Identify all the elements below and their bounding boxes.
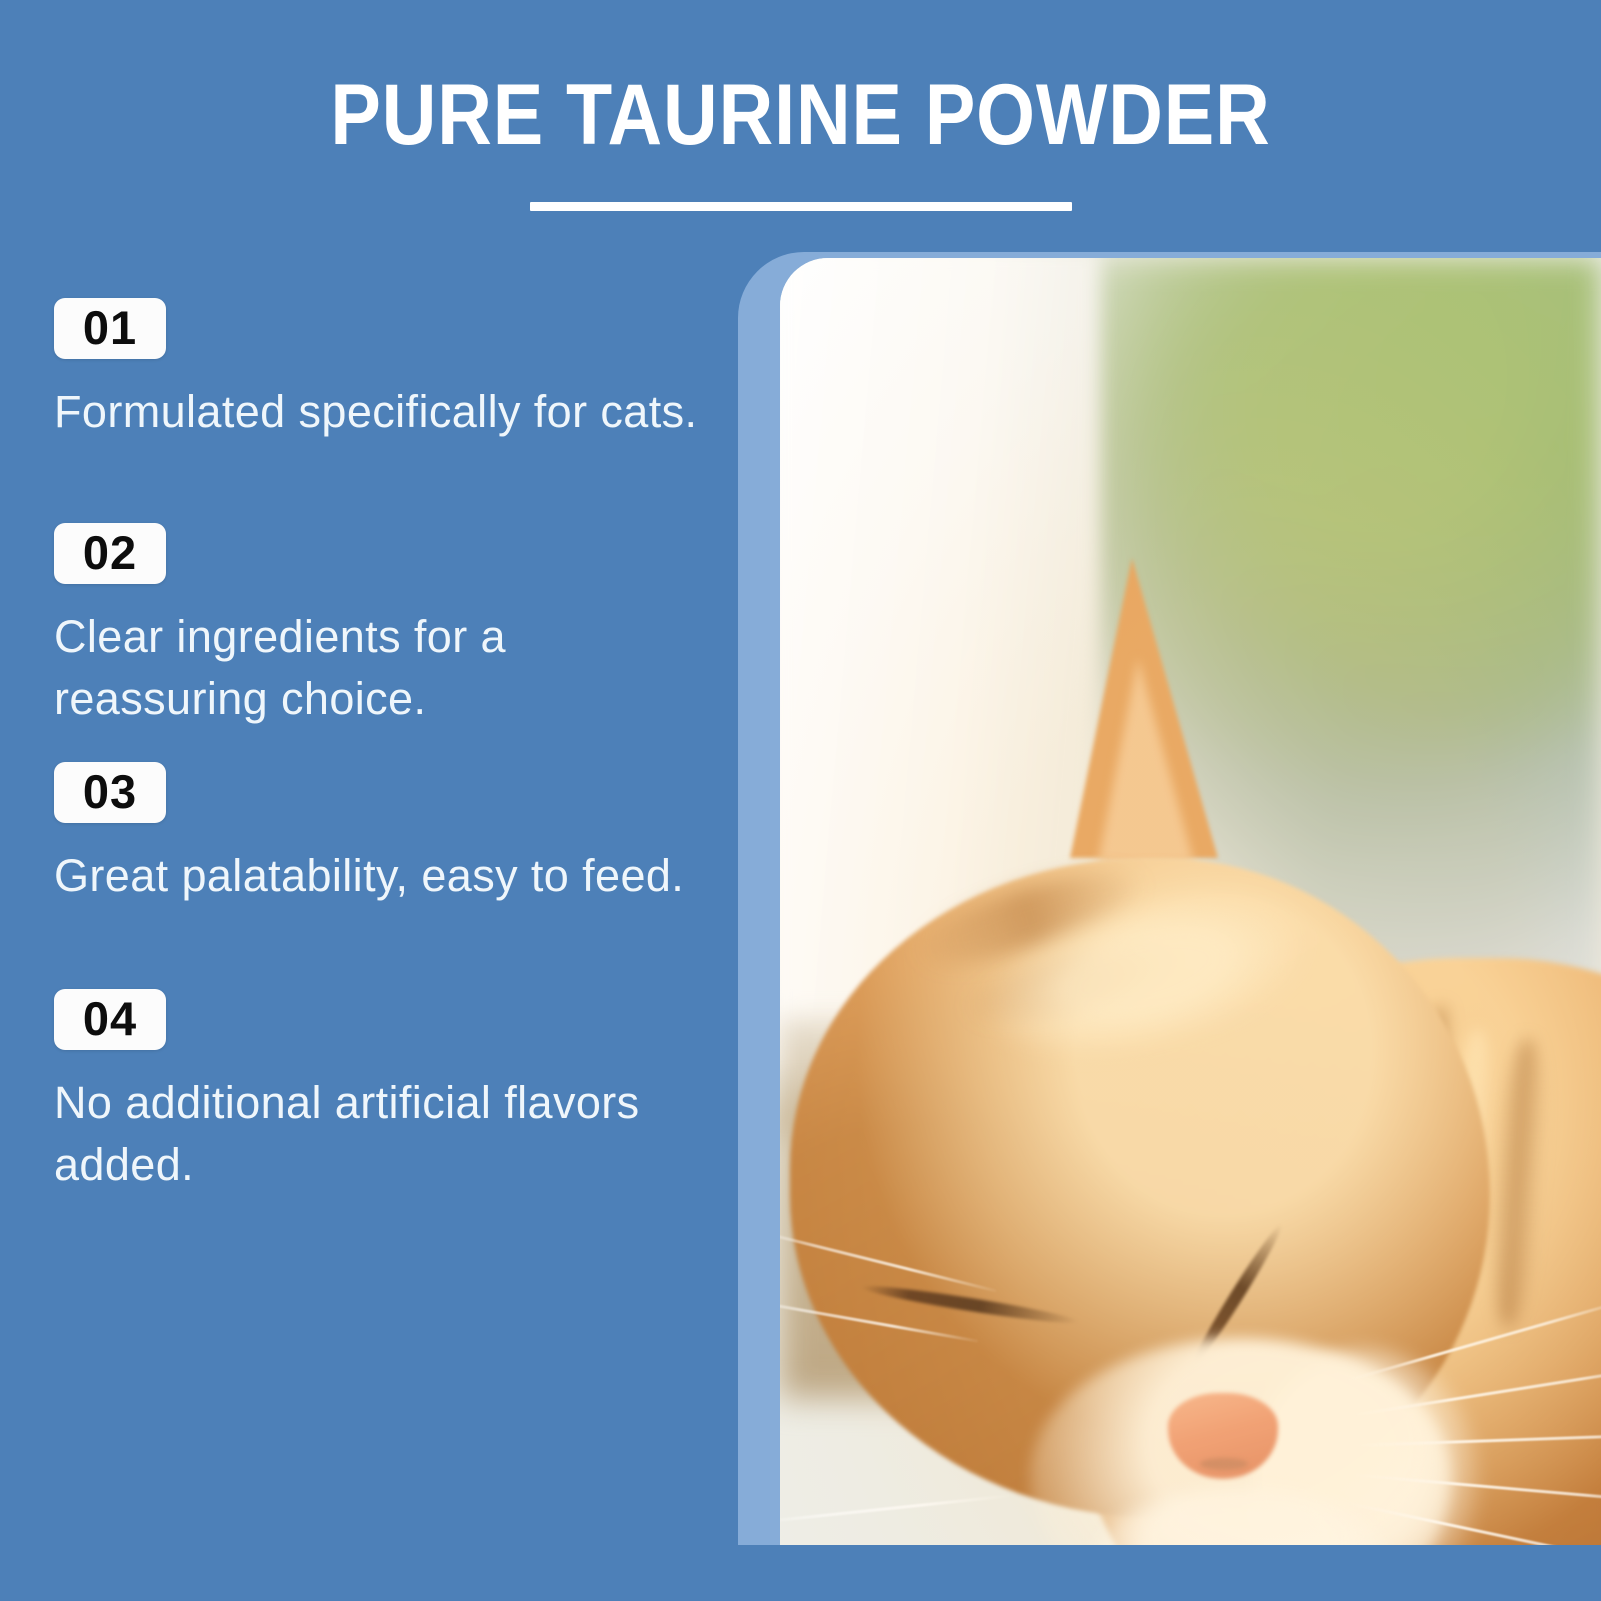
feature-number-badge-02: 02 bbox=[54, 523, 166, 584]
title-underline-rule bbox=[530, 202, 1072, 211]
feature-text-01: Formulated specifically for cats. bbox=[54, 381, 704, 443]
feature-number-badge-03: 03 bbox=[54, 762, 166, 823]
cat-photo bbox=[780, 258, 1601, 1545]
feature-item-02: 02 Clear ingredients for a reassuring ch… bbox=[54, 523, 714, 730]
feature-text-03: Great palatability, easy to feed. bbox=[54, 845, 704, 907]
promo-poster: PURE TAURINE POWDER 01 Formulated specif… bbox=[0, 0, 1601, 1601]
cat-whisker-left-3 bbox=[780, 1494, 1009, 1524]
feature-number-badge-04: 04 bbox=[54, 989, 166, 1050]
feature-text-04: No additional artificial flavors added. bbox=[54, 1072, 704, 1196]
feature-item-03: 03 Great palatability, easy to feed. bbox=[54, 762, 714, 907]
page-title: PURE TAURINE POWDER bbox=[96, 72, 1505, 158]
title-block: PURE TAURINE POWDER bbox=[0, 72, 1601, 211]
feature-item-01: 01 Formulated specifically for cats. bbox=[54, 298, 714, 443]
cat-ear-inner bbox=[1098, 658, 1194, 863]
feature-item-04: 04 No additional artificial flavors adde… bbox=[54, 989, 714, 1196]
cat-mouth-line bbox=[1200, 1458, 1248, 1470]
feature-number-badge-01: 01 bbox=[54, 298, 166, 359]
feature-list: 01 Formulated specifically for cats. 02 … bbox=[54, 298, 714, 1196]
feature-text-02: Clear ingredients for a reassuring choic… bbox=[54, 606, 704, 730]
